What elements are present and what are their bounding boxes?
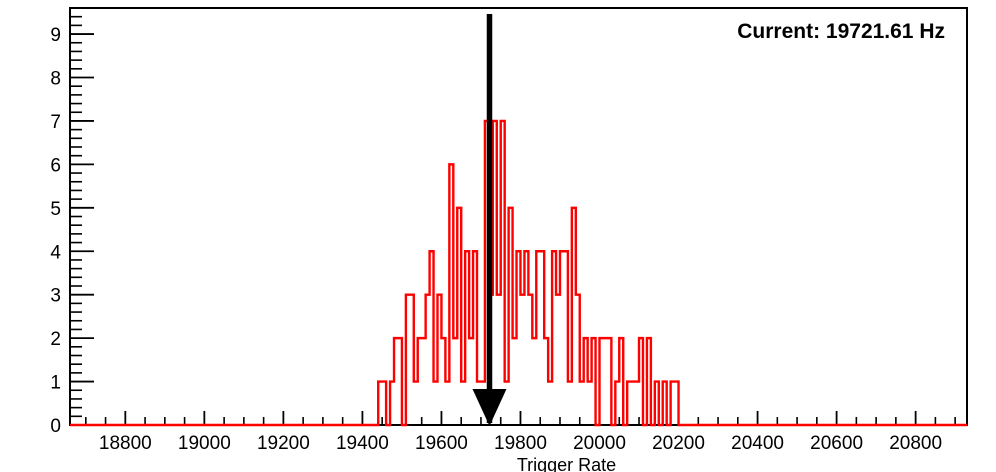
y-tick-label: 5 xyxy=(50,199,61,220)
y-tick-label: 9 xyxy=(50,25,61,46)
y-tick-label: 1 xyxy=(50,373,61,394)
current-rate-status: Current: 19721.61 Hz xyxy=(737,20,945,43)
y-tick-label: 2 xyxy=(50,329,61,350)
histogram-canvas: 0123456789 18800190001920019400196001980… xyxy=(0,0,996,472)
y-tick-label: 4 xyxy=(50,242,61,263)
x-tick-label: 20200 xyxy=(652,433,705,454)
x-tick-label: 19800 xyxy=(494,433,547,454)
x-tick-label: 19000 xyxy=(178,433,231,454)
x-tick-label: 20400 xyxy=(731,433,784,454)
trigger-rate-plot: 0123456789 18800190001920019400196001980… xyxy=(0,0,996,472)
y-tick-label: 6 xyxy=(50,155,61,176)
y-tick-label: 0 xyxy=(50,416,61,437)
x-tick-label: 20000 xyxy=(573,433,626,454)
x-tick-label: 19600 xyxy=(415,433,468,454)
plot-frame xyxy=(70,8,967,425)
y-tick-label: 8 xyxy=(50,69,61,90)
x-tick-label: 19400 xyxy=(336,433,389,454)
x-tick-label: 19200 xyxy=(257,433,310,454)
y-axis-tick-labels: 0123456789 xyxy=(50,25,61,437)
x-tick-label: 20800 xyxy=(889,433,942,454)
x-tick-label: 18800 xyxy=(99,433,152,454)
x-axis-title: Trigger Rate xyxy=(517,455,616,472)
x-tick-label: 20600 xyxy=(810,433,863,454)
x-axis-tick-labels: 1880019000192001940019600198002000020200… xyxy=(99,433,942,454)
y-tick-label: 3 xyxy=(50,286,61,307)
y-tick-label: 7 xyxy=(50,112,61,133)
